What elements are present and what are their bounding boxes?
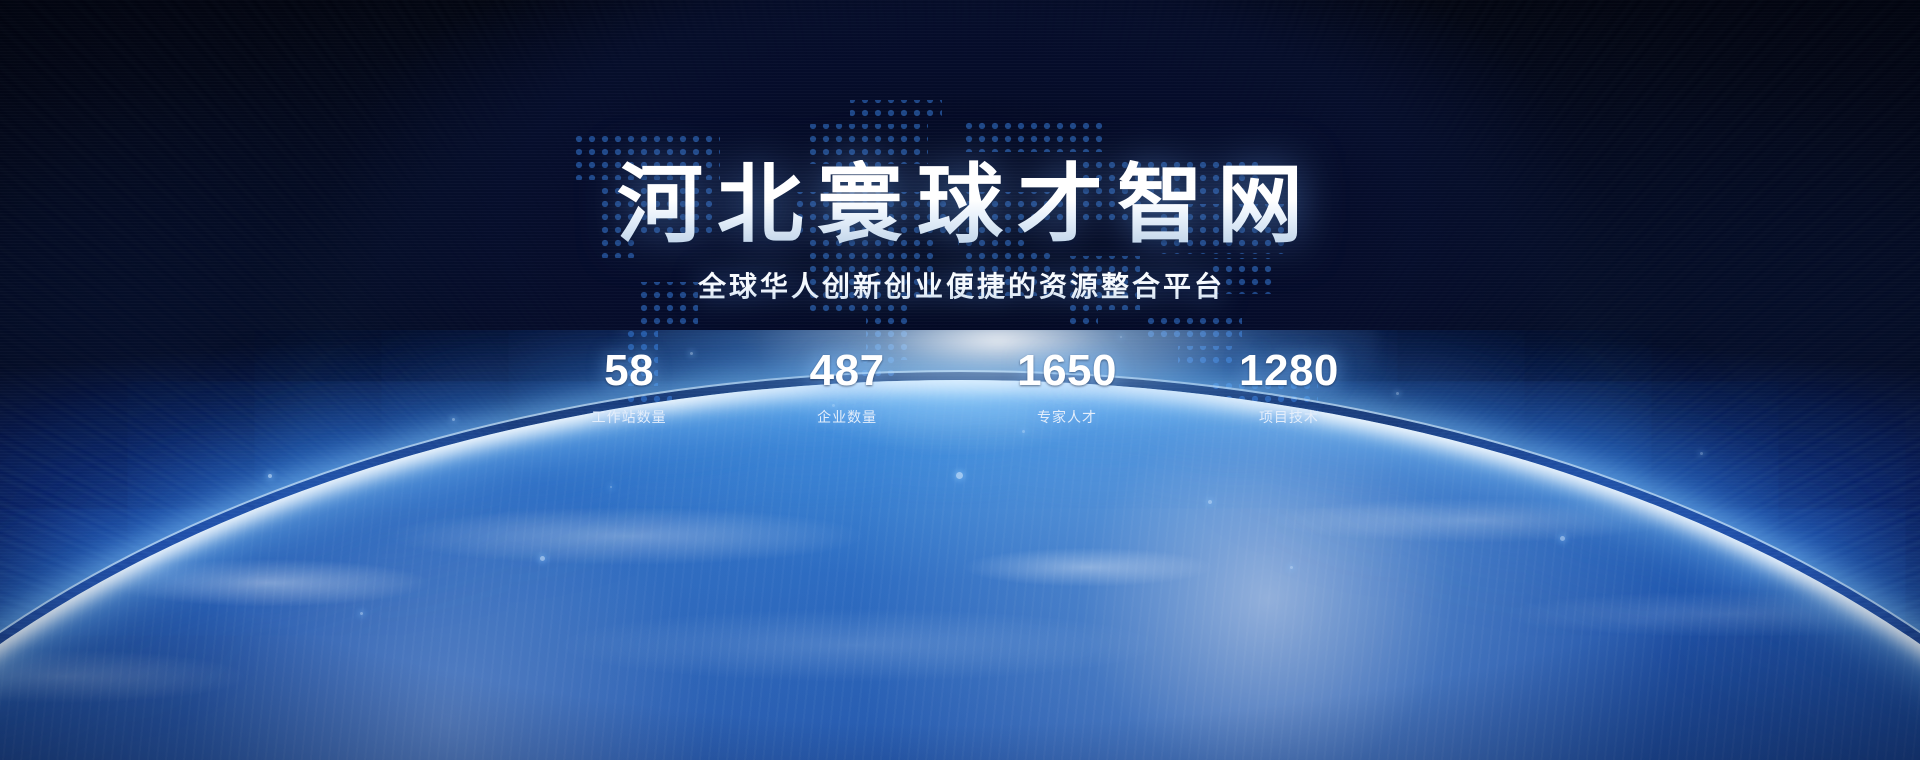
- stat-label: 专家人才: [1037, 407, 1097, 427]
- page-subtitle: 全球华人创新创业便捷的资源整合平台: [695, 265, 1225, 305]
- stat-item-workstations: 58 工作站数量: [581, 349, 677, 427]
- banner-content: 河北寰球才智网 全球华人创新创业便捷的资源整合平台 58 工作站数量 487 企…: [0, 0, 1920, 760]
- stat-value: 487: [810, 349, 885, 393]
- stat-item-experts: 1650 专家人才: [1017, 349, 1117, 427]
- hero-banner: 河北寰球才智网 全球华人创新创业便捷的资源整合平台 58 工作站数量 487 企…: [0, 0, 1920, 760]
- stat-item-projects: 1280 项目技术: [1239, 349, 1339, 427]
- stat-label: 项目技术: [1259, 407, 1319, 427]
- stat-value: 1280: [1239, 349, 1339, 393]
- stat-label: 企业数量: [817, 407, 877, 427]
- page-title: 河北寰球才智网: [603, 160, 1317, 251]
- stat-value: 1650: [1017, 349, 1117, 393]
- stat-label: 工作站数量: [592, 407, 667, 427]
- stat-item-enterprises: 487 企业数量: [799, 349, 895, 427]
- statistics-row: 58 工作站数量 487 企业数量 1650 专家人才 1280 项目技术: [581, 349, 1339, 427]
- stat-value: 58: [604, 349, 654, 393]
